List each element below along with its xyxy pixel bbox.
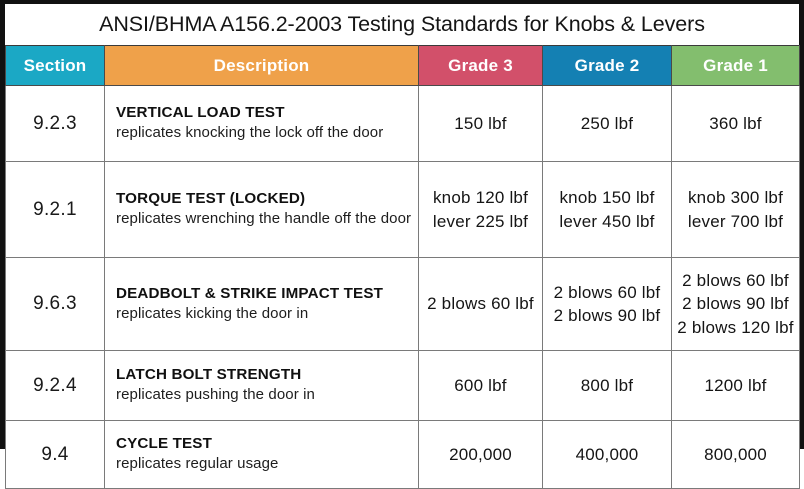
- standards-table-frame: ANSI/BHMA A156.2-2003 Testing Standards …: [0, 0, 804, 449]
- test-subtext: replicates knocking the lock off the doo…: [116, 123, 418, 143]
- grade-3-value: 600 lbf: [419, 351, 543, 421]
- section-number: 9.6.3: [6, 258, 105, 351]
- grade-1-value: 1200 lbf: [672, 351, 800, 421]
- grade-value-line: 360 lbf: [674, 112, 797, 135]
- column-header-grade-3[interactable]: Grade 3: [419, 46, 543, 86]
- table-row: 9.2.4 LATCH BOLT STRENGTH replicates pus…: [6, 351, 800, 421]
- grade-value-line: 800 lbf: [545, 374, 669, 397]
- grade-value-line: lever 450 lbf: [545, 210, 669, 233]
- grade-2-value: 250 lbf: [543, 86, 672, 162]
- grade-value-line: lever 225 lbf: [421, 210, 540, 233]
- grade-value-line: 200,000: [421, 443, 540, 466]
- grade-1-value: 800,000: [672, 421, 800, 489]
- section-number: 9.2.3: [6, 86, 105, 162]
- grade-1-value: 360 lbf: [672, 86, 800, 162]
- test-subtext: replicates kicking the door in: [116, 304, 418, 324]
- column-header-grade-2[interactable]: Grade 2: [543, 46, 672, 86]
- test-subtext: replicates regular usage: [116, 454, 418, 474]
- grade-value-line: 2 blows 90 lbf: [545, 304, 669, 327]
- grade-1-value: knob 300 lbf lever 700 lbf: [672, 162, 800, 258]
- table-header: Section Description Grade 3 Grade 2 Grad…: [6, 46, 800, 86]
- table-row: 9.6.3 DEADBOLT & STRIKE IMPACT TEST repl…: [6, 258, 800, 351]
- grade-value-line: knob 150 lbf: [545, 186, 669, 209]
- grade-3-value: 200,000: [419, 421, 543, 489]
- section-number: 9.2.1: [6, 162, 105, 258]
- test-name: TORQUE TEST (LOCKED): [116, 189, 418, 209]
- grade-value-line: knob 120 lbf: [421, 186, 540, 209]
- test-subtext: replicates pushing the door in: [116, 385, 418, 405]
- grade-value-line: 600 lbf: [421, 374, 540, 397]
- grade-value-line: 150 lbf: [421, 112, 540, 135]
- test-name: VERTICAL LOAD TEST: [116, 103, 418, 123]
- grade-3-value: 2 blows 60 lbf: [419, 258, 543, 351]
- header-row: Section Description Grade 3 Grade 2 Grad…: [6, 46, 800, 86]
- grade-value-line: knob 300 lbf: [674, 186, 797, 209]
- grade-3-value: knob 120 lbf lever 225 lbf: [419, 162, 543, 258]
- column-header-grade-1[interactable]: Grade 1: [672, 46, 800, 86]
- grade-value-line: 2 blows 120 lbf: [674, 316, 797, 339]
- grade-value-line: 400,000: [545, 443, 669, 466]
- grade-value-line: 1200 lbf: [674, 374, 797, 397]
- grade-value-line: 2 blows 60 lbf: [545, 281, 669, 304]
- testing-standards-table: Section Description Grade 3 Grade 2 Grad…: [5, 45, 800, 489]
- grade-2-value: 400,000: [543, 421, 672, 489]
- section-number: 9.4: [6, 421, 105, 489]
- test-description-cell: LATCH BOLT STRENGTH replicates pushing t…: [105, 351, 419, 421]
- grade-2-value: knob 150 lbf lever 450 lbf: [543, 162, 672, 258]
- grade-2-value: 2 blows 60 lbf 2 blows 90 lbf: [543, 258, 672, 351]
- test-description-cell: CYCLE TEST replicates regular usage: [105, 421, 419, 489]
- grade-value-line: 2 blows 60 lbf: [421, 292, 540, 315]
- column-header-section[interactable]: Section: [6, 46, 105, 86]
- test-name: CYCLE TEST: [116, 434, 418, 454]
- grade-2-value: 800 lbf: [543, 351, 672, 421]
- test-name: DEADBOLT & STRIKE IMPACT TEST: [116, 284, 418, 304]
- page-title: ANSI/BHMA A156.2-2003 Testing Standards …: [99, 12, 705, 37]
- section-number: 9.2.4: [6, 351, 105, 421]
- table-body: 9.2.3 VERTICAL LOAD TEST replicates knoc…: [6, 86, 800, 489]
- test-name: LATCH BOLT STRENGTH: [116, 365, 418, 385]
- grade-value-line: lever 700 lbf: [674, 210, 797, 233]
- table-row: 9.4 CYCLE TEST replicates regular usage …: [6, 421, 800, 489]
- column-header-description[interactable]: Description: [105, 46, 419, 86]
- grade-1-value: 2 blows 60 lbf 2 blows 90 lbf 2 blows 12…: [672, 258, 800, 351]
- grade-value-line: 2 blows 90 lbf: [674, 292, 797, 315]
- table-row: 9.2.1 TORQUE TEST (LOCKED) replicates wr…: [6, 162, 800, 258]
- grade-value-line: 800,000: [674, 443, 797, 466]
- test-description-cell: DEADBOLT & STRIKE IMPACT TEST replicates…: [105, 258, 419, 351]
- test-subtext: replicates wrenching the handle off the …: [116, 209, 418, 229]
- grade-value-line: 250 lbf: [545, 112, 669, 135]
- grade-value-line: 2 blows 60 lbf: [674, 269, 797, 292]
- title-bar: ANSI/BHMA A156.2-2003 Testing Standards …: [5, 4, 799, 45]
- grade-3-value: 150 lbf: [419, 86, 543, 162]
- table-row: 9.2.3 VERTICAL LOAD TEST replicates knoc…: [6, 86, 800, 162]
- test-description-cell: VERTICAL LOAD TEST replicates knocking t…: [105, 86, 419, 162]
- test-description-cell: TORQUE TEST (LOCKED) replicates wrenchin…: [105, 162, 419, 258]
